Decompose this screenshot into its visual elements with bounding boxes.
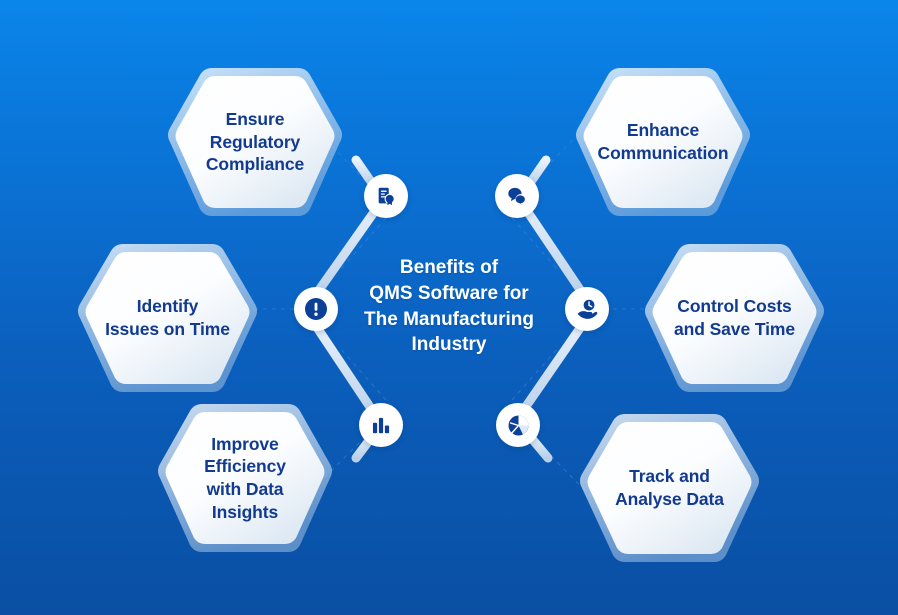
benefit-hex-regulatory[interactable]: Ensure Regulatory Compliance — [165, 62, 345, 222]
node-regulatory[interactable] — [364, 174, 408, 218]
document-seal-icon — [375, 185, 397, 207]
hand-clock-icon — [576, 298, 599, 321]
chat-bubbles-icon — [506, 185, 528, 207]
benefit-label: Track and Analyse Data — [599, 465, 740, 511]
node-efficiency[interactable] — [359, 403, 403, 447]
bar-chart-icon — [370, 414, 392, 436]
center-title: Benefits of QMS Software for The Manufac… — [329, 255, 569, 358]
node-costs[interactable] — [565, 287, 609, 331]
infographic-canvas: Ensure Regulatory Compliance Enhance Com… — [0, 0, 898, 615]
node-identify[interactable] — [294, 287, 338, 331]
pie-chart-icon — [507, 414, 530, 437]
benefit-label: Identify Issues on Time — [89, 295, 246, 341]
benefit-hex-efficiency[interactable]: Improve Efficiency with Data Insights — [155, 398, 335, 558]
benefit-label: Enhance Communication — [582, 119, 745, 165]
alert-exclamation-icon — [304, 297, 328, 321]
benefit-hex-identify[interactable]: Identify Issues on Time — [75, 238, 260, 398]
benefit-hex-costs[interactable]: Control Costs and Save Time — [642, 238, 827, 398]
benefit-hex-communication[interactable]: Enhance Communication — [573, 62, 753, 222]
node-track[interactable] — [496, 403, 540, 447]
benefit-label: Improve Efficiency with Data Insights — [188, 433, 302, 524]
benefit-label: Control Costs and Save Time — [658, 295, 811, 341]
node-communication[interactable] — [495, 174, 539, 218]
benefit-label: Ensure Regulatory Compliance — [190, 108, 320, 176]
benefit-hex-track[interactable]: Track and Analyse Data — [577, 408, 762, 568]
